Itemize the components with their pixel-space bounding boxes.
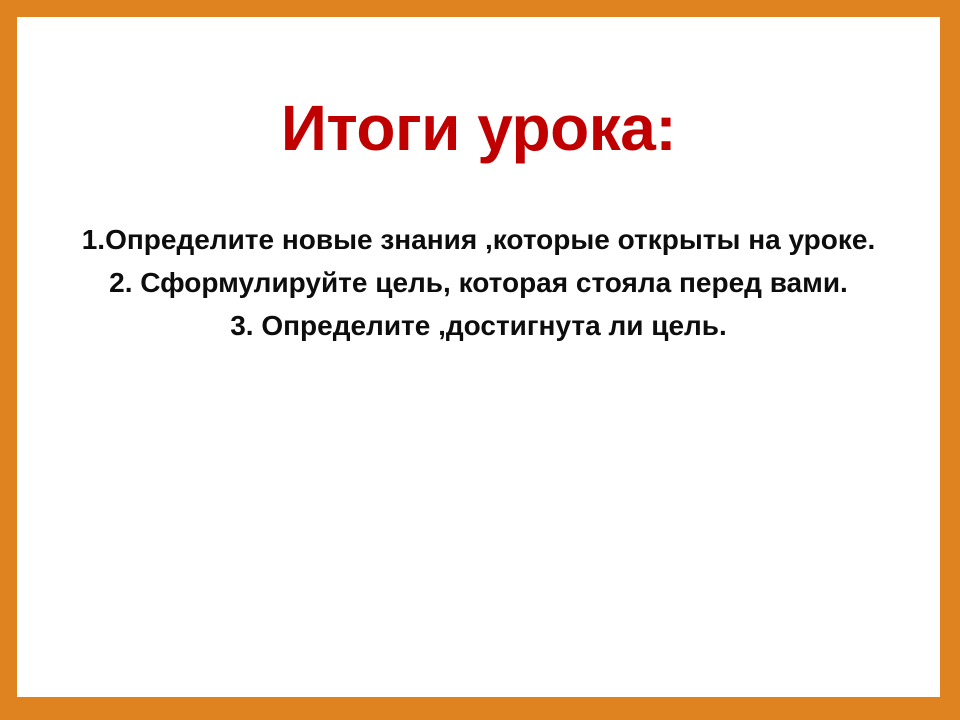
slide-canvas: Итоги урока: 1.Определите новые знания ,…	[17, 17, 940, 697]
list-item: 1.Определите новые знания ,которые откры…	[37, 219, 920, 260]
list-item: 2. Сформулируйте цель, которая стояла пе…	[37, 262, 920, 303]
slide-frame: Итоги урока: 1.Определите новые знания ,…	[0, 0, 960, 720]
summary-list: 1.Определите новые знания ,которые откры…	[37, 219, 920, 346]
page-title: Итоги урока:	[17, 95, 940, 163]
list-item: 3. Определите ,достигнута ли цель.	[37, 305, 920, 346]
